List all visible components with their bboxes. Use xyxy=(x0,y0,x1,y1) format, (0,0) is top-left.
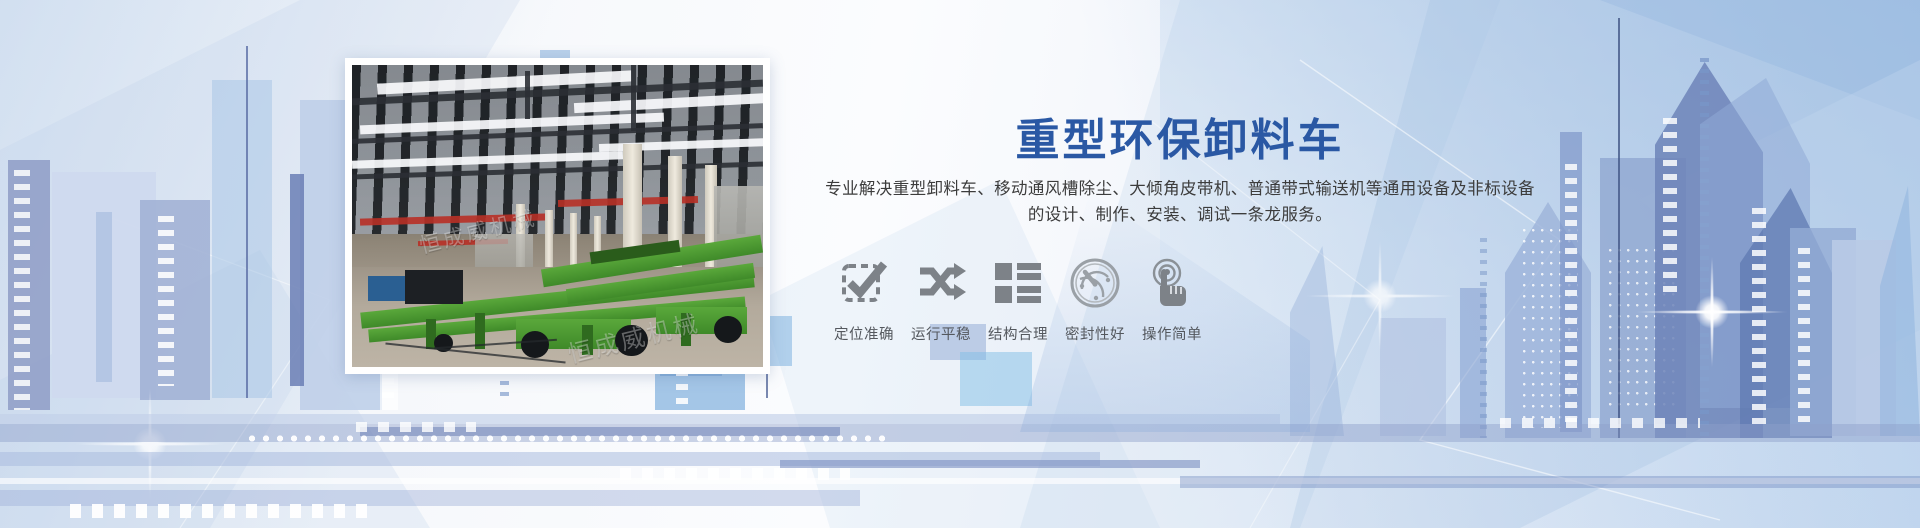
feature-item-sealing[interactable]: 密封性好 xyxy=(1057,255,1133,344)
product-photo-card[interactable]: 恒成威机械 恒成威机械 xyxy=(345,58,770,374)
gauge-meter-icon xyxy=(1057,255,1133,311)
touch-hand-icon xyxy=(1134,255,1210,311)
shuffle-arrows-icon xyxy=(903,255,979,311)
checkbox-check-icon xyxy=(826,255,902,311)
banner-description: 专业解决重型卸料车、移动通风槽除尘、大倾角皮带机、普通带式输送机等通用设备及非标… xyxy=(820,176,1540,228)
feature-label: 操作简单 xyxy=(1134,323,1210,344)
feature-item-easy-operation[interactable]: 操作简单 xyxy=(1134,255,1210,344)
feature-label: 密封性好 xyxy=(1057,323,1133,344)
feature-label: 定位准确 xyxy=(826,323,902,344)
list-grid-icon xyxy=(980,255,1056,311)
page-title: 重型环保卸料车 xyxy=(820,104,1540,168)
feature-label: 结构合理 xyxy=(980,323,1056,344)
feature-item-positioning[interactable]: 定位准确 xyxy=(826,255,902,344)
banner-content: 重型环保卸料车 专业解决重型卸料车、移动通风槽除尘、大倾角皮带机、普通带式输送机… xyxy=(820,0,1540,528)
product-photo: 恒成威机械 恒成威机械 xyxy=(352,65,763,367)
hero-banner: 恒成威机械 恒成威机械 重型环保卸料车 专业解决重型卸料车、移动通风槽除尘、大倾… xyxy=(0,0,1920,528)
feature-item-structure[interactable]: 结构合理 xyxy=(980,255,1056,344)
feature-list: 定位准确 运行平稳 xyxy=(826,255,1546,344)
feature-item-smooth-operation[interactable]: 运行平稳 xyxy=(903,255,979,344)
feature-label: 运行平稳 xyxy=(903,323,979,344)
